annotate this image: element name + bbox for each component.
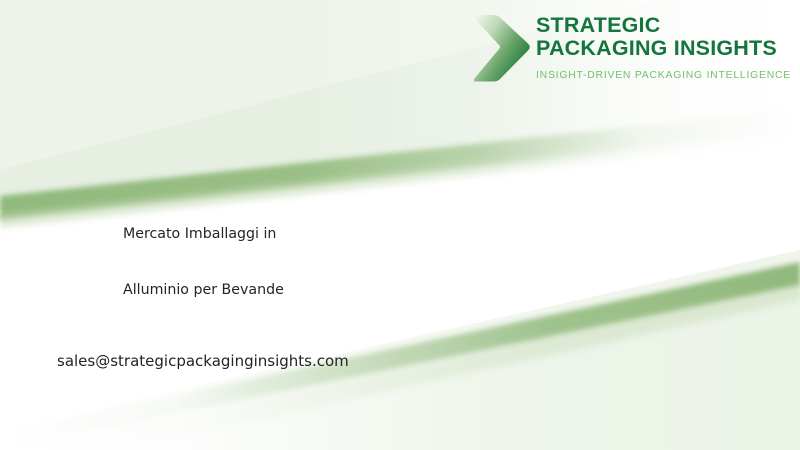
slide-title-line-2: Alluminio per Bevande	[123, 281, 284, 299]
logo-tagline: INSIGHT-DRIVEN PACKAGING INTELLIGENCE	[536, 70, 792, 82]
decor-bottom-right	[0, 250, 800, 450]
contact-email: sales@strategicpackaginginsights.com	[57, 352, 349, 371]
logo-wordmark: STRATEGIC PACKAGING INSIGHTS INSIGHT-DRI…	[536, 6, 792, 82]
slide-title-line-1: Mercato Imballaggi in	[123, 225, 276, 243]
brand-logo: STRATEGIC PACKAGING INSIGHTS INSIGHT-DRI…	[470, 6, 792, 92]
logo-word-packaging-insights: PACKAGING INSIGHTS	[536, 37, 792, 60]
chevron-arrow-mark-icon	[472, 10, 532, 86]
logo-word-strategic: STRATEGIC	[536, 14, 792, 37]
title-slide: STRATEGIC PACKAGING INSIGHTS INSIGHT-DRI…	[0, 0, 800, 450]
